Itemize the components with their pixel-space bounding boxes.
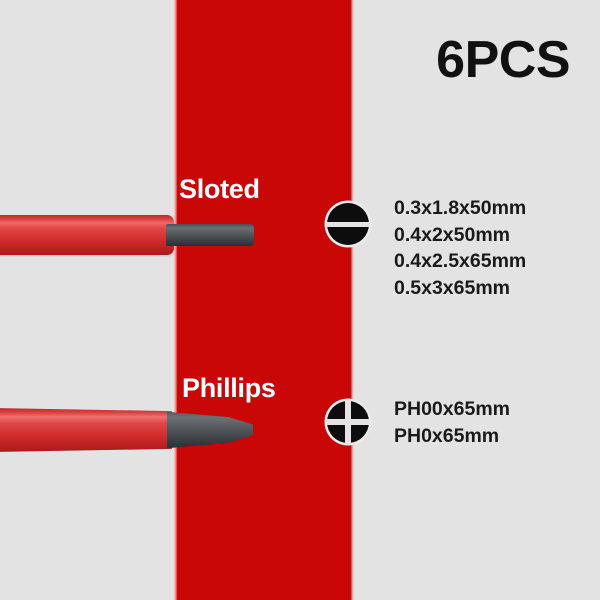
red-band-right-edge [351,0,354,600]
phillips-bit-icon [327,401,369,443]
spec-item: 0.4x2x50mm [394,222,526,249]
spec-item: 0.5x3x65mm [394,275,526,302]
slotted-spec-list: 0.3x1.8x50mm 0.4x2x50mm 0.4x2.5x65mm 0.5… [394,195,526,301]
slotted-screwdriver-shaft [0,215,174,255]
slotted-screwdriver-tip [166,224,254,246]
slot-groove-icon [326,222,370,227]
section-label-slotted: Sloted [179,174,260,205]
slotted-bit-icon [327,203,369,245]
background-panel-left [0,0,176,600]
red-band-left-edge [174,0,177,600]
spec-item: PH00x65mm [394,396,510,423]
product-infographic: 6PCS Sloted 0.3x1.8x50mm 0.4x2x50mm 0.4x… [0,0,600,600]
spec-item: 0.3x1.8x50mm [394,195,526,222]
spec-item: 0.4x2.5x65mm [394,248,526,275]
cross-groove-vertical-icon [345,400,352,444]
phillips-spec-list: PH00x65mm PH0x65mm [394,396,510,449]
phillips-screwdriver-shaft [0,408,172,452]
red-accent-band [176,0,353,600]
spec-item: PH0x65mm [394,423,510,450]
section-label-phillips: Phillips [182,373,276,404]
piece-count-title: 6PCS [436,34,570,86]
